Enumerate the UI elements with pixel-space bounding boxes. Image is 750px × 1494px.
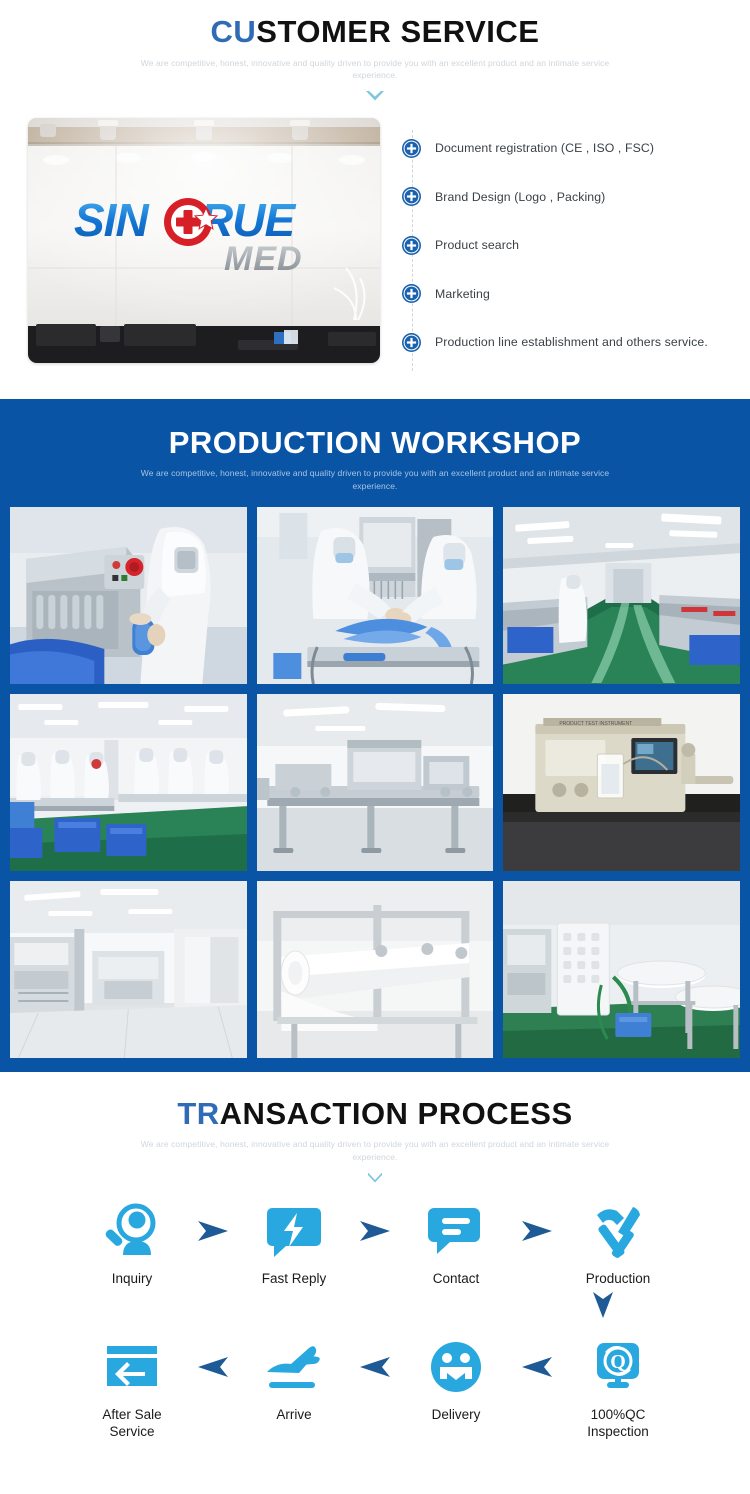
workshop-photo-workers-at-benches [10, 694, 247, 871]
plus-circle-icon [402, 187, 421, 206]
title-accent: PRODUCTION [169, 425, 382, 460]
arrow-right-icon [191, 1200, 235, 1262]
chat-bolt-icon [235, 1200, 353, 1262]
plus-circle-icon [402, 236, 421, 255]
process-step-label: Delivery [397, 1407, 515, 1424]
workshop-photo-testing-equipment: PRODUCT TEST INSTRUMENT [503, 694, 740, 871]
workshop-photo-mixing-tanks [503, 881, 740, 1058]
title-rest: WORKSHOP [382, 425, 581, 460]
process-row-top: Inquiry Fast Reply [0, 1200, 750, 1288]
list-item[interactable]: Product search [402, 221, 738, 270]
production-workshop-section: PRODUCTION WORKSHOP We are competitive, … [0, 399, 750, 1072]
plus-circle-icon [402, 284, 421, 303]
arrow-right-icon [353, 1200, 397, 1262]
title-rest: ANSACTION PROCESS [220, 1096, 573, 1131]
arrow-left-icon [353, 1336, 397, 1398]
process-step-production[interactable]: Production [559, 1200, 677, 1288]
workshop-photo-grid: PRODUCT TEST INSTRUMENT [0, 507, 750, 1058]
svg-text:RUE: RUE [200, 194, 296, 246]
customer-service-body: SIN RUE MED [0, 102, 750, 399]
process-step-label: Production [559, 1271, 677, 1288]
process-step-fast-reply[interactable]: Fast Reply [235, 1200, 353, 1288]
hammer-screwdriver-icon [559, 1200, 677, 1262]
company-reception-wall-photo: SIN RUE MED [28, 118, 380, 363]
section-subtitle: We are competitive, honest, innovative a… [140, 467, 610, 493]
two-people-circle-icon [397, 1336, 515, 1398]
svg-text:PRODUCT TEST INSTRUMENT: PRODUCT TEST INSTRUMENT [560, 721, 633, 727]
transaction-process-header: TRANSACTION PROCESS We are competitive, … [0, 1082, 750, 1184]
customer-service-list: Document registration (CE , ISO , FSC) B… [390, 118, 738, 373]
section-subtitle: We are competitive, honest, innovative a… [140, 57, 610, 83]
page-root: CUSTOMER SERVICE We are competitive, hon… [0, 0, 750, 1471]
list-item-label: Marketing [435, 287, 490, 301]
list-item[interactable]: Production line establishment and others… [402, 318, 738, 367]
plus-circle-icon [402, 333, 421, 352]
svg-text:MED: MED [224, 240, 303, 278]
process-step-contact[interactable]: Contact [397, 1200, 515, 1288]
customer-service-header: CUSTOMER SERVICE We are competitive, hon… [0, 0, 750, 102]
arrow-left-icon [515, 1336, 559, 1398]
arrow-left-icon [191, 1336, 235, 1398]
process-step-delivery[interactable]: Delivery [397, 1336, 515, 1424]
list-item[interactable]: Brand Design (Logo , Packing) [402, 173, 738, 222]
process-step-label: After Sale Service [73, 1407, 191, 1441]
list-item-label: Production line establishment and others… [435, 335, 708, 349]
customer-service-section: CUSTOMER SERVICE We are competitive, hon… [0, 0, 750, 399]
process-step-label: Fast Reply [235, 1271, 353, 1288]
chat-lines-icon [397, 1200, 515, 1262]
workshop-photo-fabric-roll-machine [257, 881, 494, 1058]
arrow-right-icon [515, 1200, 559, 1262]
svg-text:Q: Q [610, 1351, 626, 1373]
page-title: TRANSACTION PROCESS [0, 1096, 750, 1132]
process-step-label: Inquiry [73, 1271, 191, 1288]
production-workshop-header: PRODUCTION WORKSHOP We are competitive, … [0, 411, 750, 493]
title-accent: TR [177, 1096, 219, 1131]
chevron-down-icon [364, 1171, 386, 1184]
process-step-after-sale-service[interactable]: After Sale Service [73, 1336, 191, 1441]
qc-monitor-icon: Q [559, 1336, 677, 1398]
search-person-icon [73, 1200, 191, 1262]
workshop-photo-packaging-machine-operator [10, 507, 247, 684]
list-item-label: Product search [435, 238, 519, 252]
title-accent: CU [211, 14, 257, 49]
process-step-label: Contact [397, 1271, 515, 1288]
process-step-label: 100%QC Inspection [559, 1407, 677, 1441]
page-title: PRODUCTION WORKSHOP [0, 425, 750, 461]
plus-circle-icon [402, 139, 421, 158]
list-item-label: Brand Design (Logo , Packing) [435, 190, 605, 204]
list-item-label: Document registration (CE , ISO , FSC) [435, 141, 654, 155]
list-item[interactable]: Marketing [402, 270, 738, 319]
process-step-qc-inspection[interactable]: Q 100%QC Inspection [559, 1336, 677, 1441]
process-step-inquiry[interactable]: Inquiry [73, 1200, 191, 1288]
workshop-photo-clean-room-machinery [10, 881, 247, 1058]
page-title: CUSTOMER SERVICE [0, 14, 750, 50]
section-subtitle: We are competitive, honest, innovative a… [140, 1138, 610, 1164]
workshop-photo-two-workers-assembly-line [257, 507, 494, 684]
title-rest: STOMER SERVICE [256, 14, 539, 49]
process-step-label: Arrive [235, 1407, 353, 1424]
chevron-down-icon [364, 89, 386, 102]
process-step-arrive[interactable]: Arrive [235, 1336, 353, 1424]
workshop-photo-clean-room-corridor [503, 507, 740, 684]
list-item[interactable]: Document registration (CE , ISO , FSC) [402, 124, 738, 173]
arrow-down-icon [0, 1290, 750, 1320]
transaction-process-section: TRANSACTION PROCESS We are competitive, … [0, 1072, 750, 1471]
airplane-landing-icon [235, 1336, 353, 1398]
return-box-icon [73, 1336, 191, 1398]
svg-text:SIN: SIN [74, 194, 149, 246]
process-row-bottom: After Sale Service Arrive [0, 1336, 750, 1441]
workshop-photo-conveyor-machine [257, 694, 494, 871]
